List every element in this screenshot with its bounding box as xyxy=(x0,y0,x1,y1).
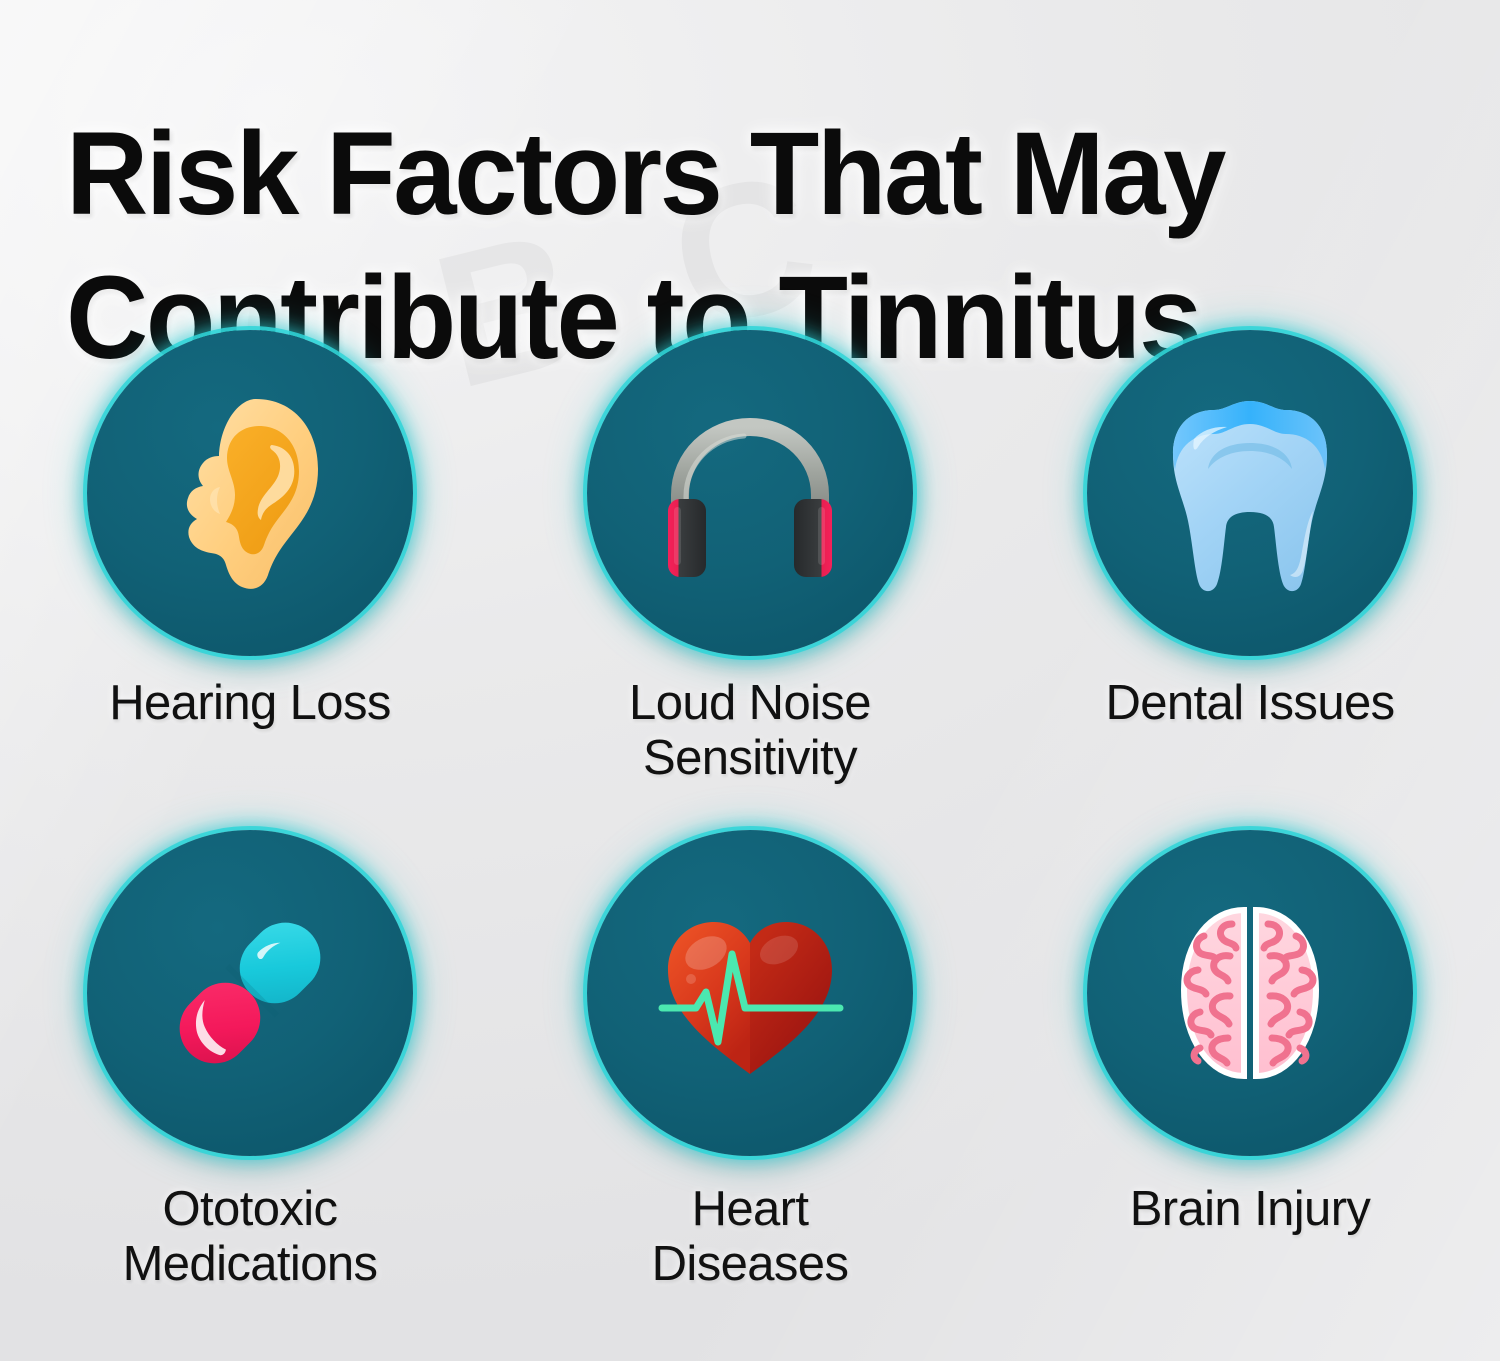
risk-factor-label: Loud Noise Sensitivity xyxy=(629,676,871,787)
ear-icon xyxy=(160,393,340,593)
risk-factor-label: Heart Diseases xyxy=(652,1182,849,1293)
icon-badge[interactable] xyxy=(1087,330,1413,656)
risk-factor-label: Ototoxic Medications xyxy=(123,1182,378,1293)
risk-factor-label: Brain Injury xyxy=(1130,1182,1371,1237)
icon-badge[interactable] xyxy=(587,330,913,656)
risk-factor-label: Hearing Loss xyxy=(109,676,391,731)
risk-factor-label: Dental Issues xyxy=(1105,676,1394,731)
risk-factor-grid: Hearing Loss xyxy=(0,330,1500,1330)
risk-factor-card-dental-issues[interactable]: Dental Issues xyxy=(1020,330,1480,830)
risk-factor-card-brain-injury[interactable]: Brain Injury xyxy=(1020,830,1480,1330)
icon-badge[interactable] xyxy=(587,830,913,1156)
risk-factor-card-loud-noise-sensitivity[interactable]: Loud Noise Sensitivity xyxy=(520,330,980,830)
icon-badge[interactable] xyxy=(1087,830,1413,1156)
risk-factor-card-heart-diseases[interactable]: Heart Diseases xyxy=(520,830,980,1330)
icon-badge[interactable] xyxy=(87,830,413,1156)
infographic-poster: A B C Risk Factors That May Contribute t… xyxy=(0,0,1500,1361)
heart-pulse-icon xyxy=(650,898,850,1088)
tooth-icon xyxy=(1163,393,1338,593)
headphones-icon xyxy=(650,403,850,583)
pill-capsule-icon xyxy=(145,888,355,1098)
brain-icon xyxy=(1160,898,1340,1088)
risk-factor-card-ototoxic-medications[interactable]: Ototoxic Medications xyxy=(20,830,480,1330)
icon-badge[interactable] xyxy=(87,330,413,656)
risk-factor-card-hearing-loss[interactable]: Hearing Loss xyxy=(20,330,480,830)
